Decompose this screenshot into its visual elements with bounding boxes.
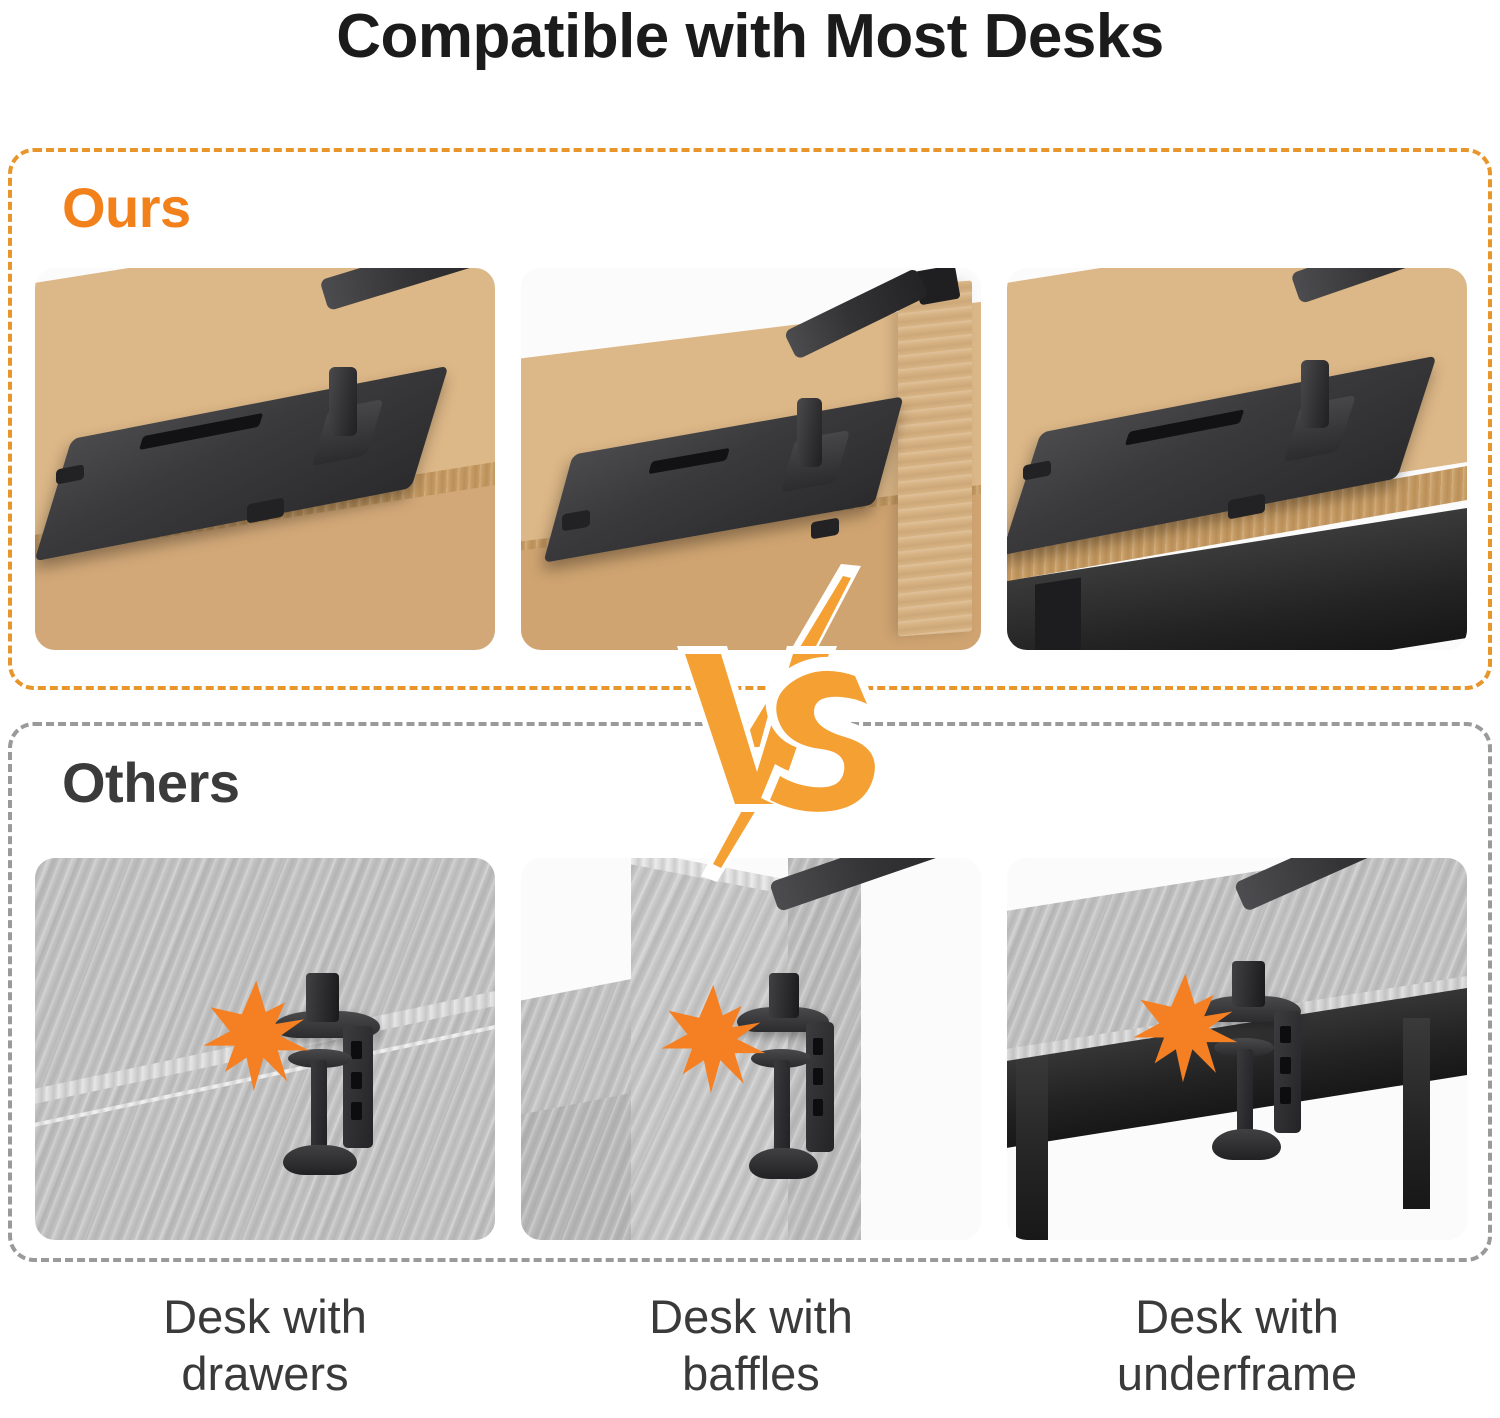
arm-riser (329, 367, 357, 436)
caption-line-1: Desk with (1007, 1288, 1467, 1345)
ours-photo-freestanding-base-over-underframe (1007, 268, 1467, 650)
clamp-tighten-knob (283, 1145, 357, 1176)
caption-desk-with-drawers: Desk with drawers (35, 1288, 495, 1403)
clamp-adjust-hole (351, 1102, 362, 1119)
others-photo-clamp-blocked-by-drawer (35, 858, 495, 1240)
caption-line-1: Desk with (35, 1288, 495, 1345)
scene-drawer-desk (35, 858, 495, 1240)
ours-photo-row (35, 268, 1467, 650)
conflict-burst-icon (1131, 969, 1249, 1087)
clamp-adjust-hole (813, 1038, 824, 1055)
others-photo-clamp-blocked-by-underframe (1007, 858, 1467, 1240)
scene-underframe-desk (1007, 268, 1467, 650)
clamp-adjust-hole (1280, 1026, 1291, 1043)
others-photo-row (35, 858, 1467, 1240)
desk-leg (1035, 578, 1081, 650)
scene-underframe-desk-gray (1007, 858, 1467, 1240)
clamp-adjust-hole (351, 1041, 362, 1058)
page-title: Compatible with Most Desks (0, 2, 1500, 71)
scene-baffle-desk (521, 268, 981, 650)
scene-baffle-desk-gray (521, 858, 981, 1240)
caption-desk-with-underframe: Desk with underframe (1007, 1288, 1467, 1403)
ours-photo-freestanding-base-near-baffle (521, 268, 981, 650)
clamp-adjust-hole (813, 1099, 824, 1116)
clamp-adjust-hole (351, 1072, 362, 1089)
conflict-burst-icon (201, 976, 321, 1096)
clamp-tighten-knob (1212, 1129, 1281, 1160)
caption-line-1: Desk with (521, 1288, 981, 1345)
ours-section-label: Ours (62, 180, 191, 236)
ours-photo-freestanding-base-on-plain-desk (35, 268, 495, 650)
desk-baffle-panel (898, 281, 972, 638)
conflict-burst-icon (659, 980, 777, 1098)
arm-riser (797, 398, 822, 467)
scene-plain-desk (35, 268, 495, 650)
caption-line-2: baffles (521, 1345, 981, 1402)
desk-leg-left (1016, 1049, 1048, 1240)
clamp-adjust-hole (1280, 1057, 1291, 1074)
clamp-tighten-knob (749, 1148, 818, 1179)
others-section-label: Others (62, 755, 240, 811)
caption-row: Desk with drawers Desk with baffles Desk… (35, 1288, 1467, 1403)
clamp-adjust-hole (1280, 1087, 1291, 1104)
desk-leg-right (1403, 1018, 1431, 1209)
caption-line-2: underframe (1007, 1345, 1467, 1402)
others-photo-clamp-blocked-by-baffle (521, 858, 981, 1240)
arm-riser (1301, 360, 1329, 429)
caption-desk-with-baffles: Desk with baffles (521, 1288, 981, 1403)
caption-line-2: drawers (35, 1345, 495, 1402)
clamp-adjust-hole (813, 1068, 824, 1085)
